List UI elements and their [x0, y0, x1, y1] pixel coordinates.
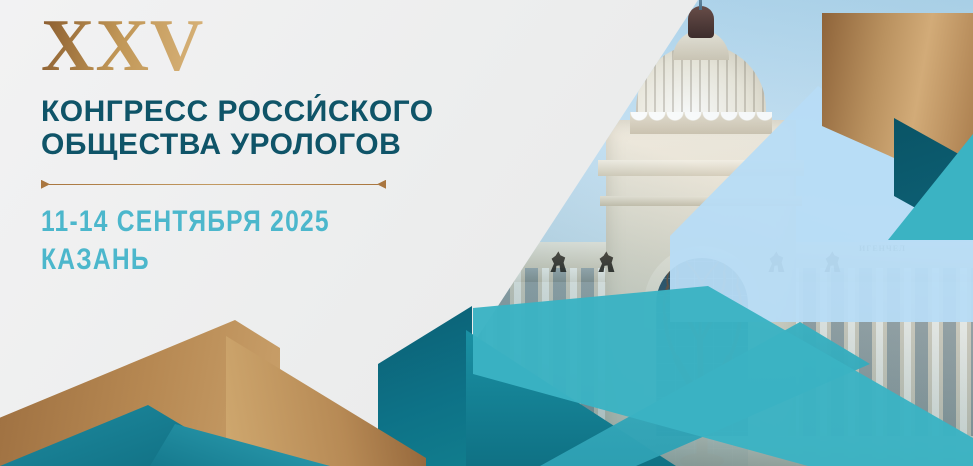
event-city: КАЗАНЬ	[41, 241, 410, 279]
event-dates: 11-14 СЕНТЯБРЯ 2025	[41, 203, 410, 241]
congress-title-line-2: ОБЩЕСТВА УРОЛОГОВ	[41, 128, 491, 162]
arrow-right-tip-icon	[377, 180, 386, 189]
ornamental-divider	[41, 180, 386, 189]
congress-banner: ЦЕВ ИГЕНЧЕЛ	[0, 0, 973, 466]
banner-text-block: XXV КОНГРЕСС РОССИ́СКОГО ОБЩЕСТВА УРОЛОГ…	[41, 10, 491, 279]
congress-title-line-1: КОНГРЕСС РОССИ́СКОГО	[41, 95, 491, 129]
divider-bar	[49, 184, 378, 186]
edition-number: XXV	[41, 10, 491, 83]
